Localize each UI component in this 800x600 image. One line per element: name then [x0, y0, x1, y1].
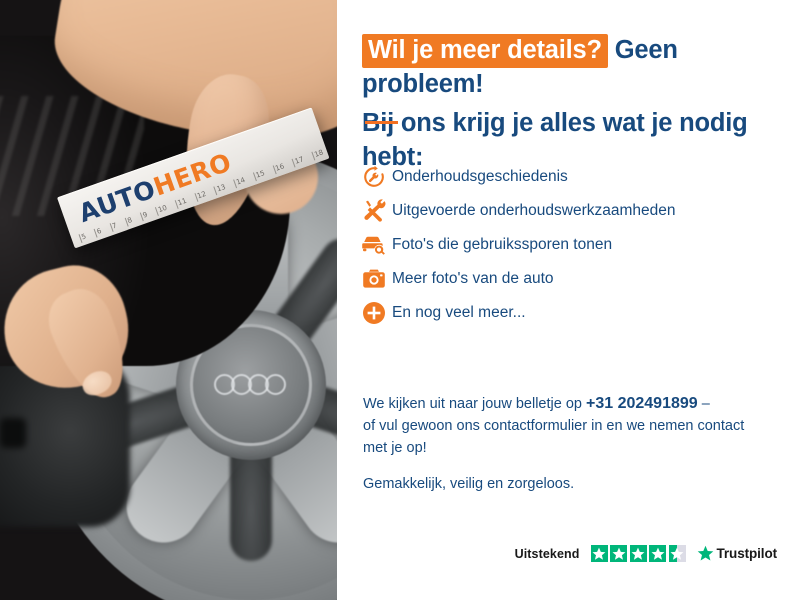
car-inspection-icon: [362, 232, 392, 258]
autohero-details-banner: 80 SNOW AUTOHERO 5 6 7 8 9 10 11 12 13 1…: [0, 0, 800, 600]
star-filled: [591, 545, 608, 562]
rating-word: Uitstekend: [515, 547, 580, 561]
star-filled: [649, 545, 666, 562]
gauge-tick: 10: [155, 204, 168, 216]
orange-divider: [365, 121, 398, 124]
gauge-tick: 6: [94, 227, 103, 238]
contact-dash: –: [698, 396, 710, 412]
star-filled: [610, 545, 627, 562]
maintenance-history-icon: [362, 164, 392, 190]
list-item: Foto's die gebruikssporen tonen: [362, 228, 792, 262]
gauge-tick: 15: [253, 169, 266, 181]
contact-line-two: of vul gewoon ons contactformulier in en…: [363, 418, 744, 434]
gauge-tick: 16: [272, 162, 285, 174]
caliper-bolt: [0, 418, 26, 448]
gauge-tick: 18: [311, 148, 324, 160]
gauge-tick: 8: [125, 216, 134, 227]
contact-paragraph: We kijken uit naar jouw belletje op +31 …: [363, 393, 788, 459]
gauge-tick: 5: [79, 232, 88, 243]
four-rings-logo-icon: [214, 374, 288, 396]
camera-icon: [362, 266, 392, 292]
list-item-label: Onderhoudsgeschiedenis: [392, 167, 568, 187]
list-item: Onderhoudsgeschiedenis: [362, 160, 792, 194]
trustpilot-wordmark: Trustpilot: [717, 546, 778, 561]
tools-icon: [362, 198, 392, 224]
gauge-tick: 9: [140, 211, 149, 222]
headline: Wil je meer details? Geen probleem! Bij …: [362, 33, 782, 174]
gauge-tick: 13: [214, 183, 227, 195]
feature-list: Onderhoudsgeschiedenis Uitgevoerde onder…: [362, 160, 792, 330]
phone-number[interactable]: +31 202491899: [586, 395, 698, 412]
list-item-label: En nog veel meer...: [392, 303, 526, 323]
gauge-tick: 11: [175, 197, 188, 209]
gauge-tick: 17: [292, 155, 305, 167]
closing-paragraph: Gemakkelijk, veilig en zorgeloos.: [363, 473, 788, 495]
wheel-inspection-photo: 80 SNOW AUTOHERO 5 6 7 8 9 10 11 12 13 1…: [0, 0, 337, 600]
headline-highlight: Wil je meer details?: [362, 34, 608, 68]
star-filled: [630, 545, 647, 562]
list-item-label: Foto's die gebruikssporen tonen: [392, 235, 612, 255]
gauge-tick: 12: [194, 190, 207, 202]
list-item: Uitgevoerde onderhoudswerkzaamheden: [362, 194, 792, 228]
trustpilot-logo: Trustpilot: [697, 545, 778, 562]
list-item: En nog veel meer...: [362, 296, 792, 330]
gauge-tick: 14: [233, 176, 246, 188]
trustpilot-rating[interactable]: Uitstekend: [515, 545, 777, 562]
list-item: Meer foto's van de auto: [362, 262, 792, 296]
plus-circle-icon: [362, 300, 392, 326]
message-panel: Wil je meer details? Geen probleem! Bij …: [337, 0, 800, 600]
star-rating: [591, 545, 686, 562]
contact-line-three: met je op!: [363, 440, 427, 456]
trustpilot-star-icon: [697, 545, 714, 562]
star-half: [669, 545, 686, 562]
contact-lead: We kijken uit naar jouw belletje op: [363, 396, 586, 412]
list-item-label: Meer foto's van de auto: [392, 269, 554, 289]
list-item-label: Uitgevoerde onderhoudswerkzaamheden: [392, 201, 676, 221]
gauge-tick: 7: [109, 221, 118, 232]
